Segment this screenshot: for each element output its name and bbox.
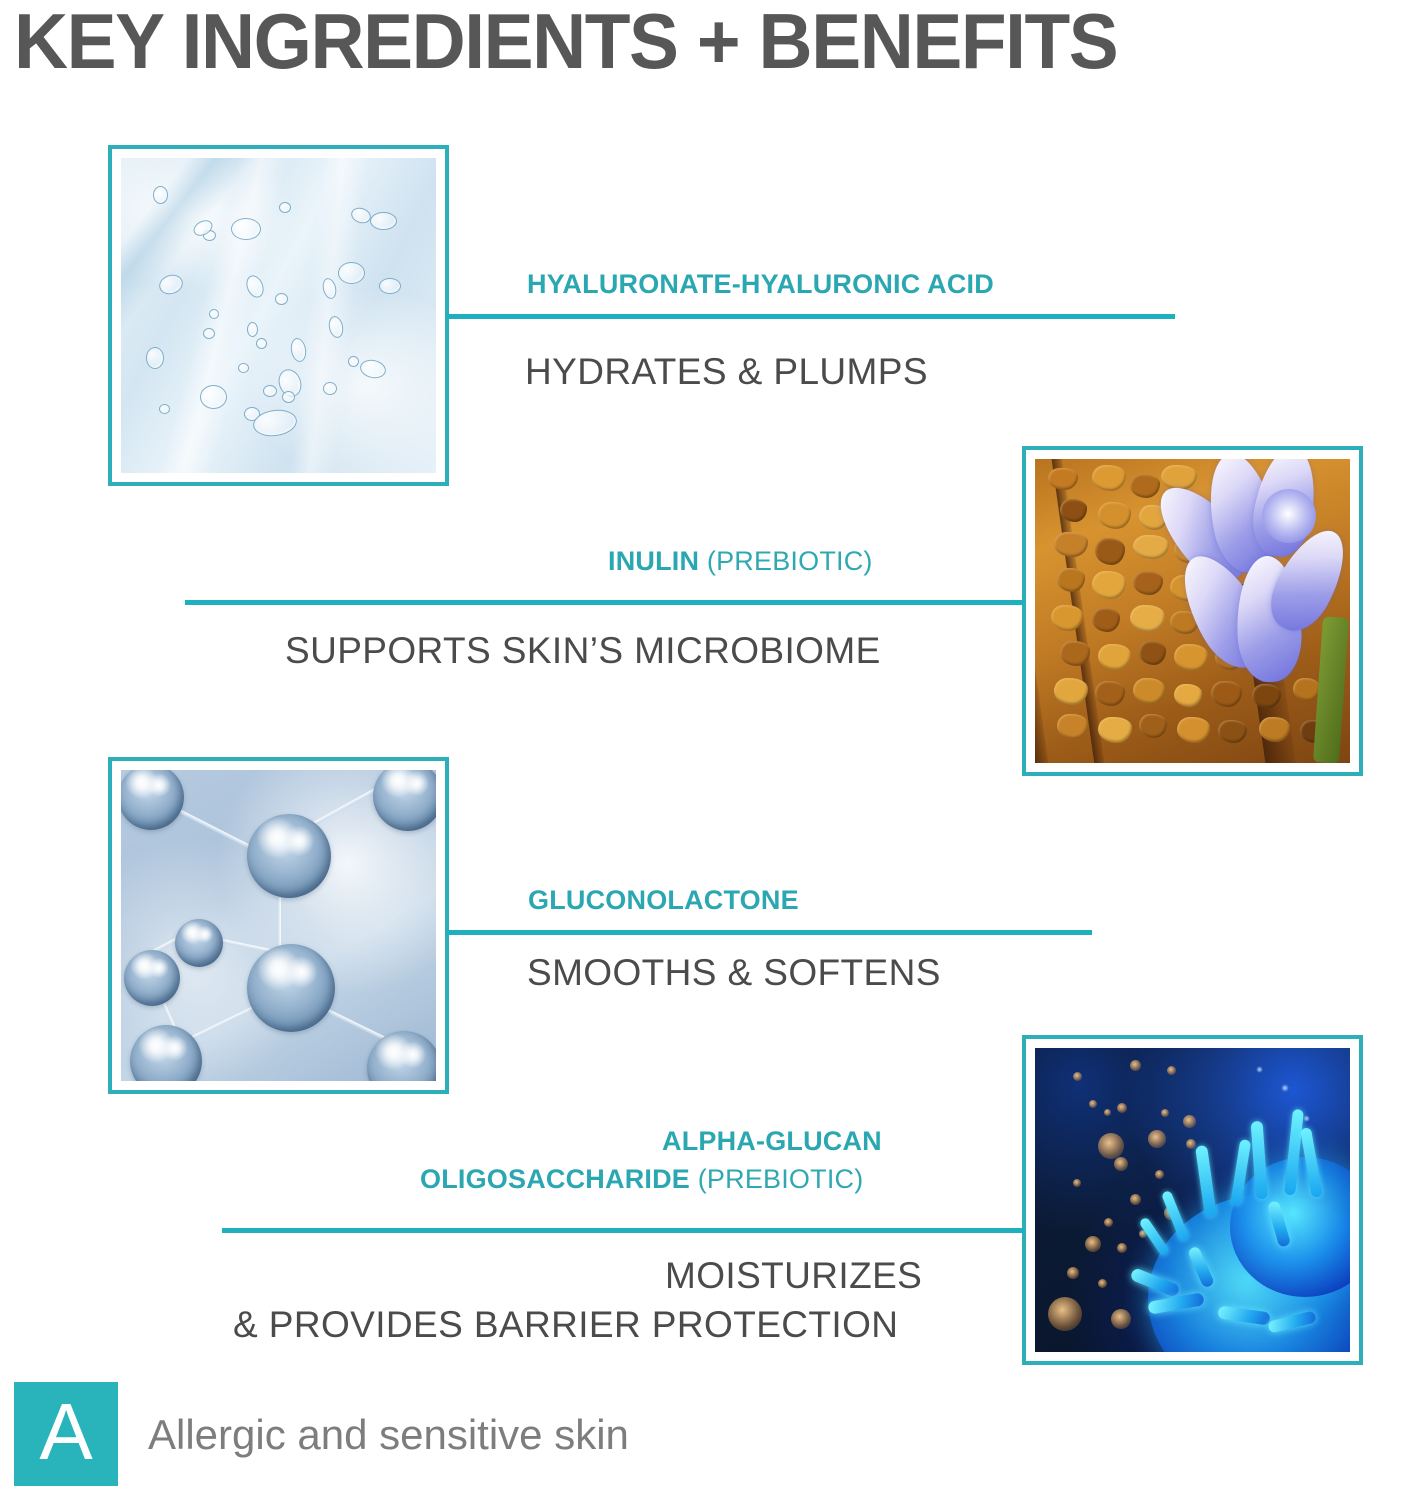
ingredient-image-gluconolactone xyxy=(108,757,449,1094)
ingredient-benefit-gluconolactone: SMOOTHS & SOFTENS xyxy=(527,950,941,996)
infographic-root: KEY INGREDIENTS + BENEFITS xyxy=(0,0,1427,1500)
ingredient-name-text: ALPHA-GLUCAN xyxy=(662,1126,882,1156)
molecule-photo xyxy=(121,770,436,1081)
page-title: KEY INGREDIENTS + BENEFITS xyxy=(14,0,1358,84)
ingredient-name-text: HYALURONATE-HYALURONIC ACID xyxy=(527,269,994,299)
ingredient-benefit-alpha-glucan-line2: & PROVIDES BARRIER PROTECTION xyxy=(233,1302,898,1348)
ingredient-name-inulin: INULIN (PREBIOTIC) xyxy=(608,543,873,579)
allergy-badge-label: Allergic and sensitive skin xyxy=(148,1410,629,1460)
ingredient-name-text: GLUCONOLACTONE xyxy=(528,885,799,915)
ingredient-qualifier: (PREBIOTIC) xyxy=(707,546,873,576)
benefit-line: MOISTURIZES xyxy=(665,1255,922,1296)
ingredient-image-inulin xyxy=(1022,446,1363,776)
ingredient-image-hyaluronate xyxy=(108,145,449,486)
ingredient-name-alpha-glucan-line1: ALPHA-GLUCAN xyxy=(662,1123,882,1159)
molecule-art xyxy=(121,770,436,1081)
ingredient-name-text: OLIGOSACCHARIDE xyxy=(420,1164,690,1194)
benefit-line: HYDRATES & PLUMPS xyxy=(525,351,928,392)
allergy-badge: A xyxy=(14,1382,118,1486)
chicory-photo xyxy=(1035,459,1350,763)
ingredient-name-hyaluronate: HYALURONATE-HYALURONIC ACID xyxy=(527,266,994,302)
ingredient-benefit-hyaluronate: HYDRATES & PLUMPS xyxy=(525,349,928,395)
ingredient-image-alpha-glucan xyxy=(1022,1035,1363,1365)
connector-line-inulin xyxy=(185,600,1025,605)
connector-line-gluconolactone xyxy=(447,930,1092,935)
gel-texture-art xyxy=(121,158,436,473)
allergy-badge-letter: A xyxy=(14,1382,118,1486)
gel-photo xyxy=(121,158,436,473)
benefit-line: SMOOTHS & SOFTENS xyxy=(527,952,941,993)
ingredient-qualifier: (PREBIOTIC) xyxy=(698,1164,864,1194)
ingredient-name-gluconolactone: GLUCONOLACTONE xyxy=(528,882,799,918)
connector-line-hyaluronate xyxy=(447,314,1175,319)
ingredient-benefit-alpha-glucan-line1: MOISTURIZES xyxy=(665,1253,922,1299)
microbiome-photo xyxy=(1035,1048,1350,1352)
benefit-line: SUPPORTS SKIN’S MICROBIOME xyxy=(285,630,881,671)
chicory-art xyxy=(1035,459,1350,763)
ingredient-name-alpha-glucan-line2: OLIGOSACCHARIDE (PREBIOTIC) xyxy=(420,1161,863,1197)
benefit-line: & PROVIDES BARRIER PROTECTION xyxy=(233,1304,898,1345)
connector-line-alpha-glucan xyxy=(222,1228,1025,1233)
ingredient-benefit-inulin: SUPPORTS SKIN’S MICROBIOME xyxy=(285,628,881,674)
ingredient-name-text: INULIN xyxy=(608,546,699,576)
microbiome-art xyxy=(1035,1048,1350,1352)
